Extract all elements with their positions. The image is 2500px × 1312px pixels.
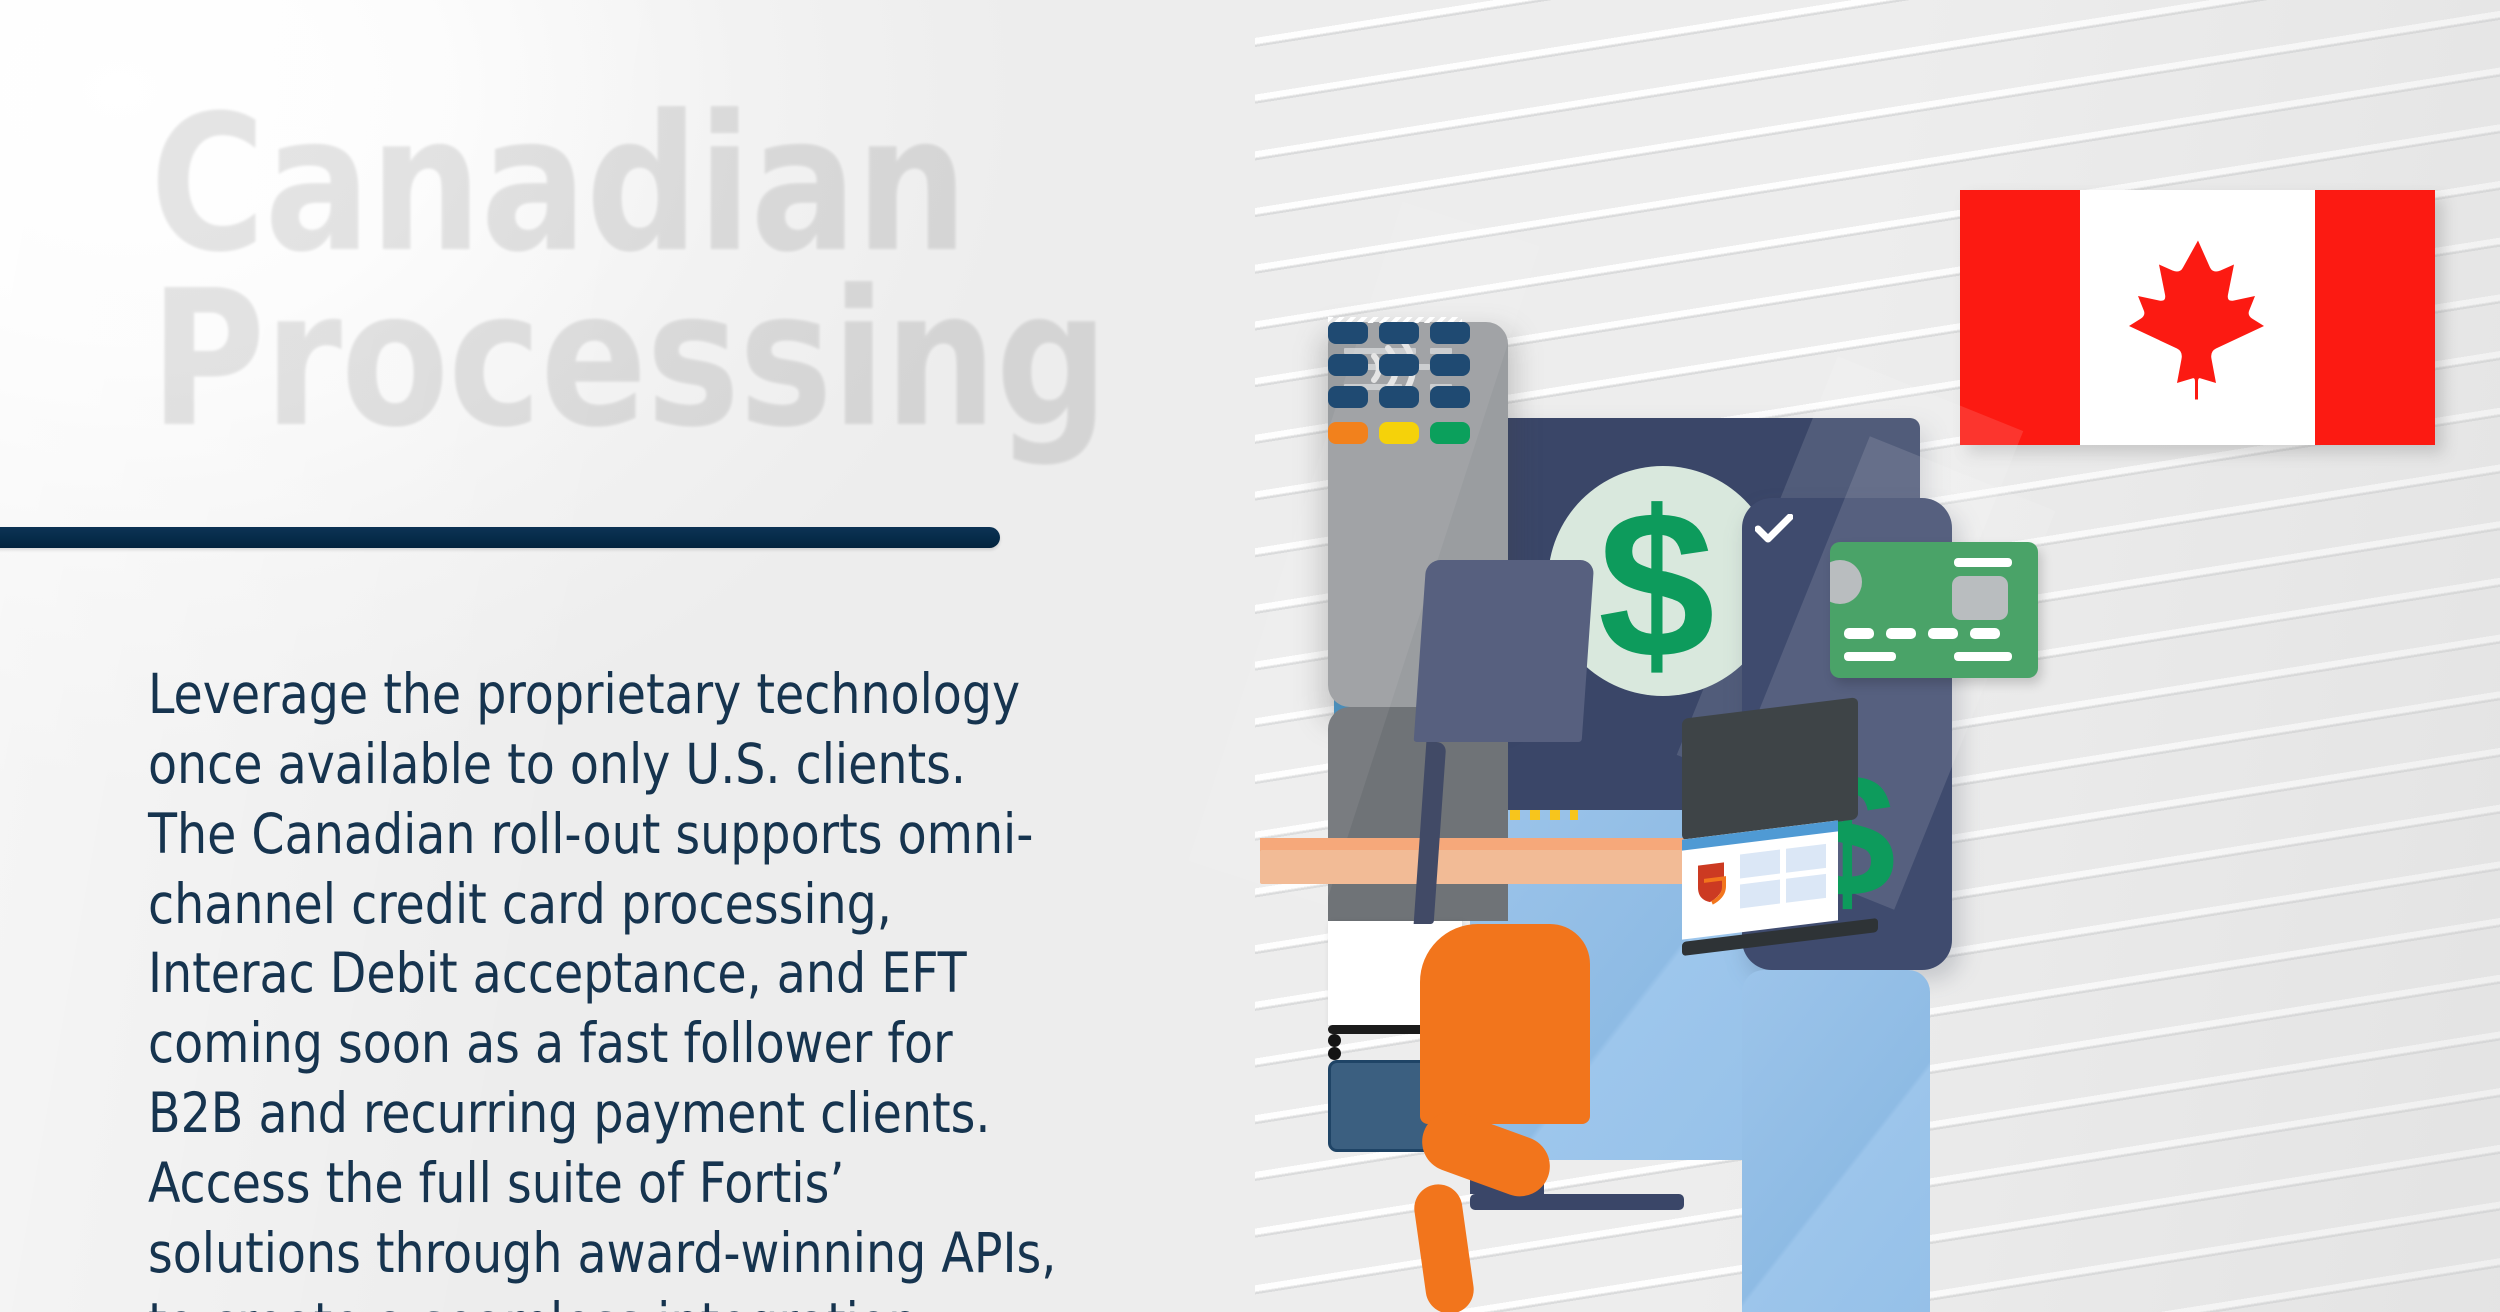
key-cancel: [1328, 422, 1368, 444]
card-logo: [1952, 576, 2008, 620]
key-clear: [1379, 422, 1419, 444]
body-paragraph: Leverage the proprietary technology once…: [148, 660, 1060, 1312]
credit-card-green: [1830, 542, 2038, 678]
seated-worker: [1420, 560, 1750, 980]
canadian-flag: [1960, 190, 2435, 445]
title-divider: [0, 527, 1000, 548]
copy-column: Canadian Processing Leverage the proprie…: [0, 0, 1250, 1312]
office-chair: [1414, 560, 1595, 742]
hero-banner: Canadian Processing Leverage the proprie…: [0, 0, 2500, 1312]
maple-leaf-icon: [2123, 232, 2273, 402]
card-chip-icon: [1830, 560, 1862, 604]
person-torso: [1420, 924, 1590, 1124]
page-title: Canadian Processing: [150, 96, 1136, 446]
phone-screen: $: [1742, 970, 1930, 1312]
illustration: $ $: [1290, 270, 2480, 1000]
check-icon: [1755, 514, 1793, 544]
key-enter: [1430, 422, 1470, 444]
